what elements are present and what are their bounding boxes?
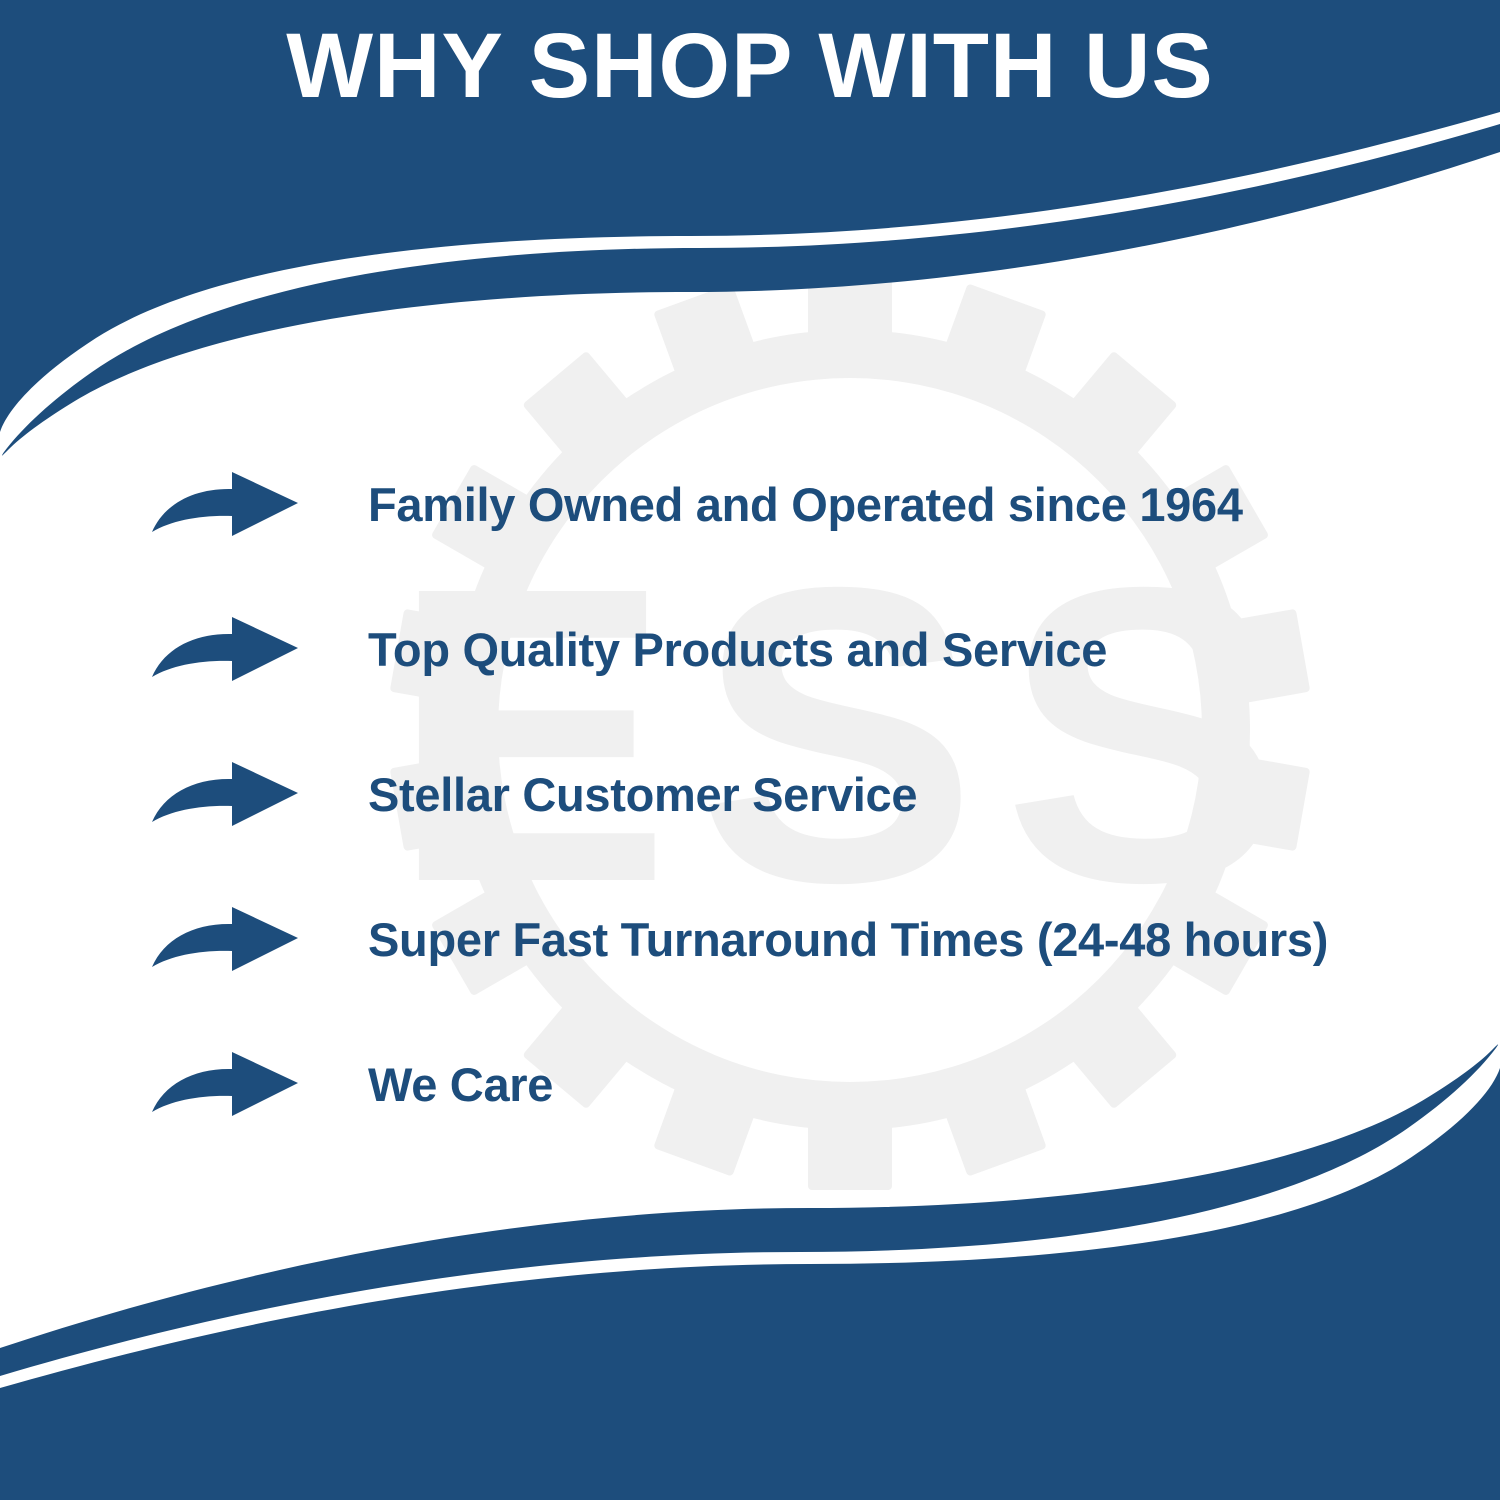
feature-label: Top Quality Products and Service [368,624,1410,676]
curved-arrow-right-icon [150,615,300,685]
feature-list: Family Owned and Operated since 1964 Top… [150,432,1410,1157]
why-shop-with-us-poster: ESS WHY SHOP WITH US Family Owned and Op… [0,0,1500,1500]
feature-label: Super Fast Turnaround Times (24-48 hours… [368,914,1410,966]
list-item: We Care [150,1012,1410,1157]
curved-arrow-right-icon [150,470,300,540]
feature-label: We Care [368,1059,1410,1111]
curved-arrow-right-icon [150,760,300,830]
page-title: WHY SHOP WITH US [0,18,1500,115]
list-item: Stellar Customer Service [150,722,1410,867]
feature-label: Family Owned and Operated since 1964 [368,479,1410,531]
feature-label: Stellar Customer Service [368,769,1410,821]
top-wave-accent [2,124,1500,456]
list-item: Family Owned and Operated since 1964 [150,432,1410,577]
list-item: Top Quality Products and Service [150,577,1410,722]
curved-arrow-right-icon [150,905,300,975]
list-item: Super Fast Turnaround Times (24-48 hours… [150,867,1410,1012]
curved-arrow-right-icon [150,1050,300,1120]
